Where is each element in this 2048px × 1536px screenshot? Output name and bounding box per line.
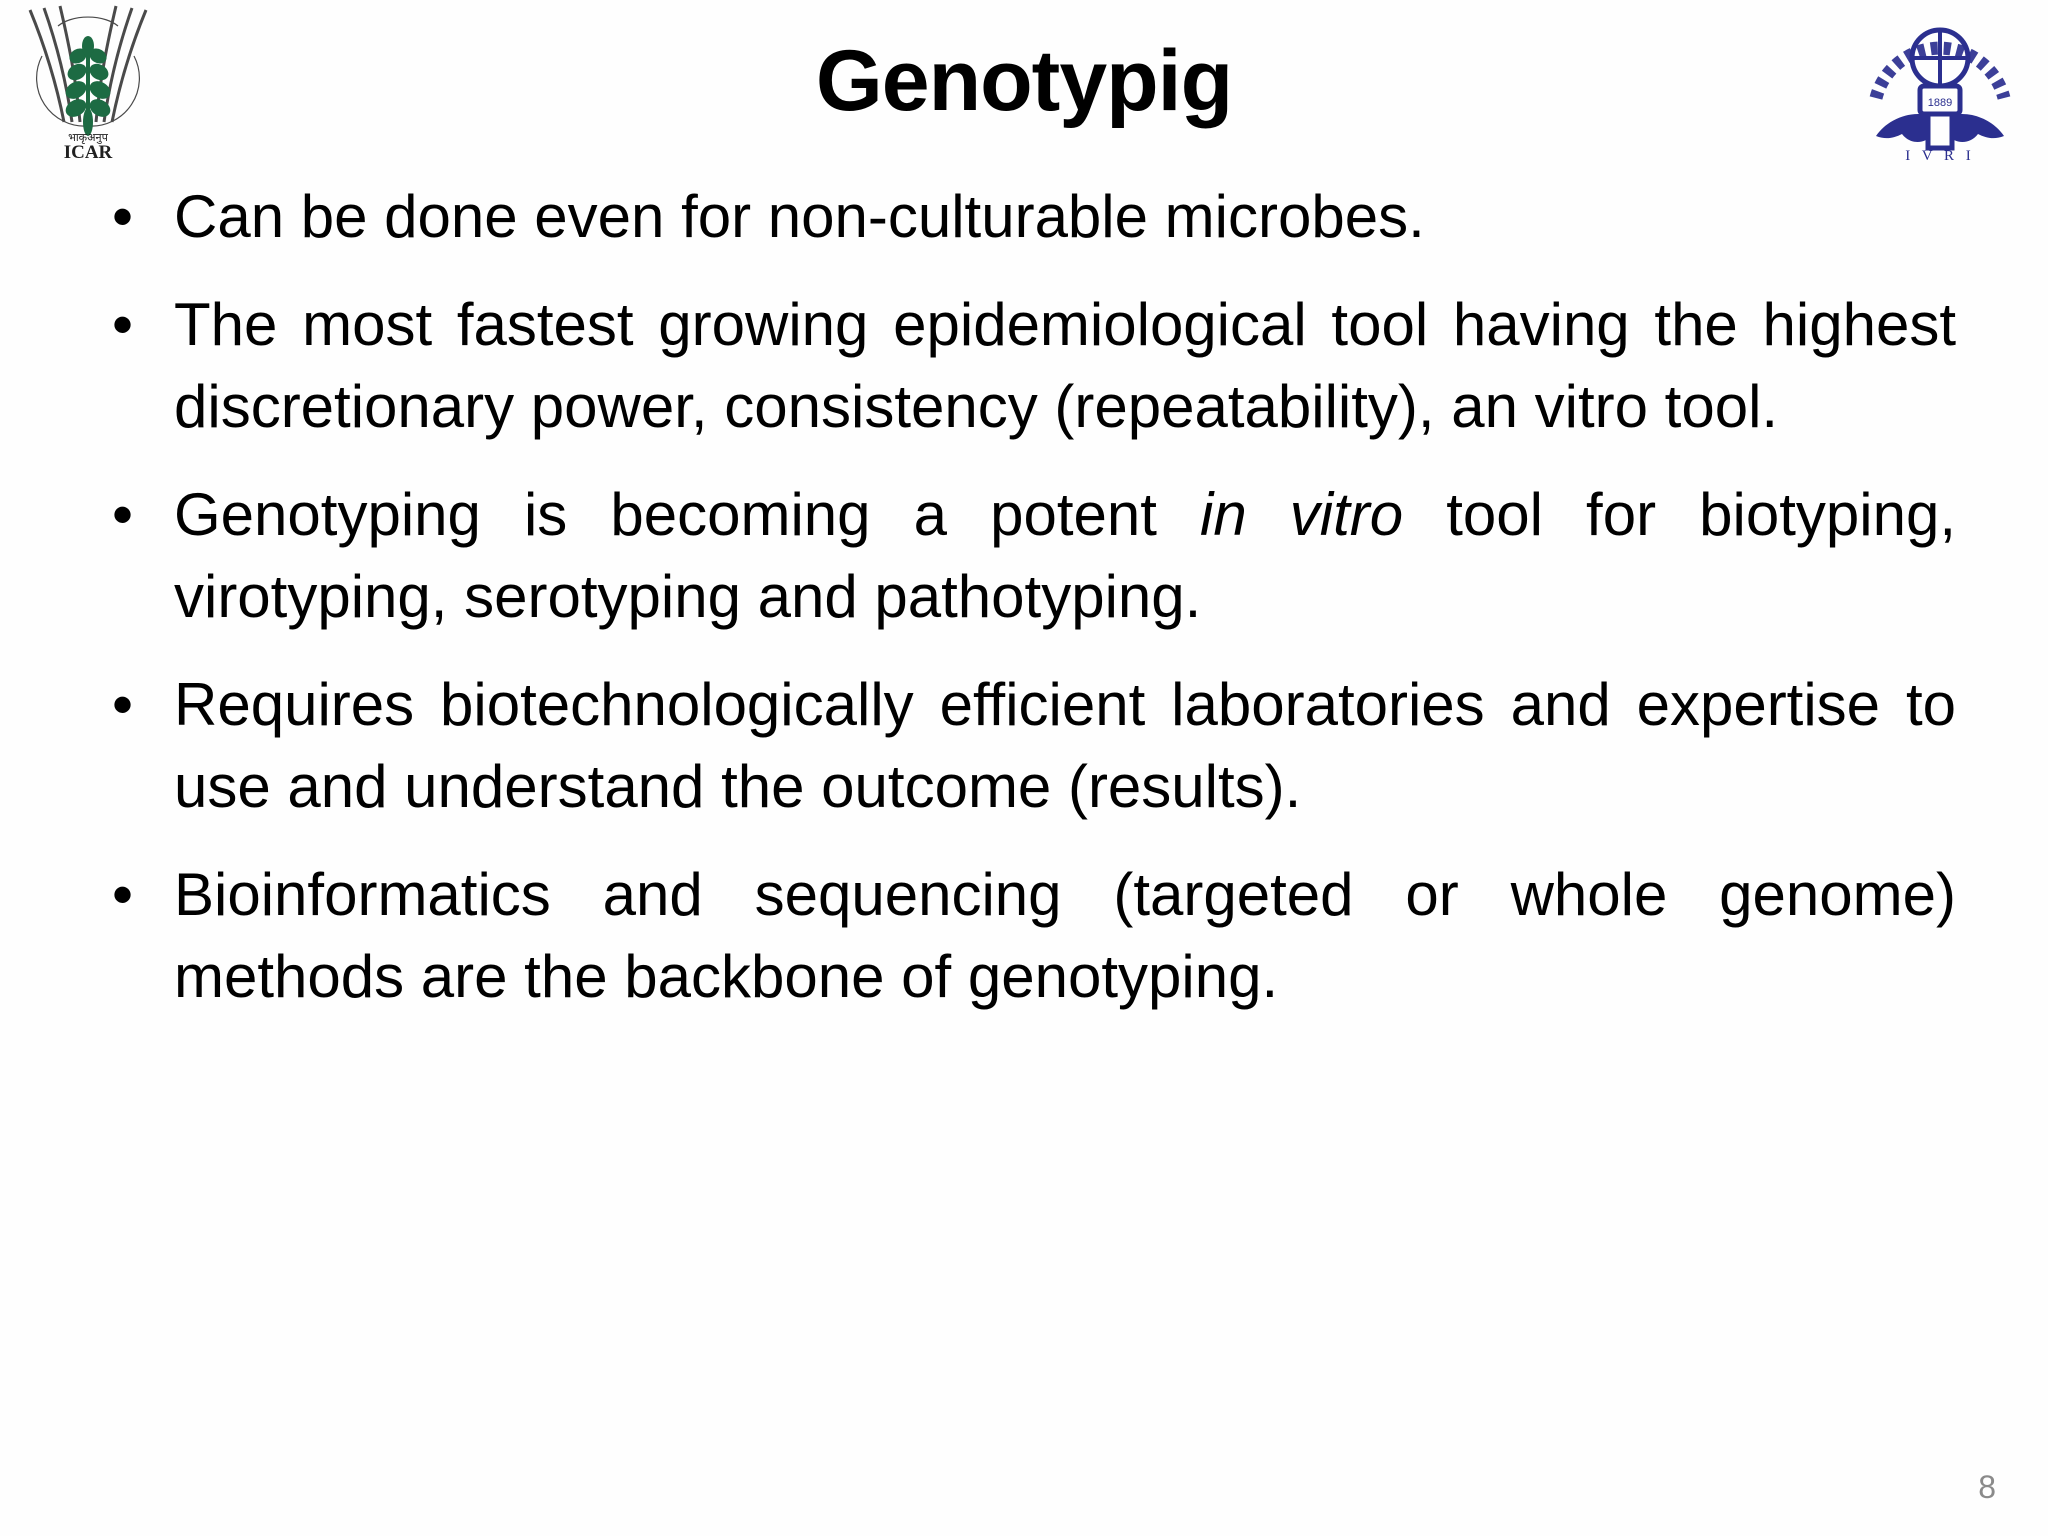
list-item: • Genotyping is becoming a potent in vit…	[108, 474, 1956, 638]
slide-canvas: भाकृअनुप ICAR 1889 I V R I Genotypig •	[0, 0, 2048, 1536]
list-item: • Requires biotechnologically efficient …	[108, 664, 1956, 828]
bullet-point-icon: •	[108, 854, 174, 936]
list-item: • Can be done even for non-culturable mi…	[108, 176, 1956, 258]
icar-acronym-label: ICAR	[64, 142, 113, 163]
list-item: • Bioinformatics and sequencing (targete…	[108, 854, 1956, 1018]
list-item-text: Requires biotechnologically efficient la…	[174, 664, 1956, 828]
bullet-point-icon: •	[108, 176, 174, 258]
bullet-list: • Can be done even for non-culturable mi…	[108, 176, 1956, 1044]
list-item-text-italic: in vitro	[1200, 481, 1403, 548]
list-item-text: Can be done even for non-culturable micr…	[174, 176, 1956, 258]
page-title: Genotypig	[0, 36, 2048, 126]
list-item: • The most fastest growing epidemiologic…	[108, 284, 1956, 448]
list-item-text: Bioinformatics and sequencing (targeted …	[174, 854, 1956, 1018]
bullet-point-icon: •	[108, 284, 174, 366]
ivri-acronym-label: I V R I	[1905, 148, 1975, 162]
list-item-text: The most fastest growing epidemiological…	[174, 284, 1956, 448]
page-number: 8	[1978, 1469, 1996, 1506]
list-item-text: Genotyping is becoming a potent in vitro…	[174, 474, 1956, 638]
list-item-text-lead: Genotyping is becoming a potent	[174, 481, 1200, 548]
bullet-point-icon: •	[108, 474, 174, 556]
bullet-point-icon: •	[108, 664, 174, 746]
